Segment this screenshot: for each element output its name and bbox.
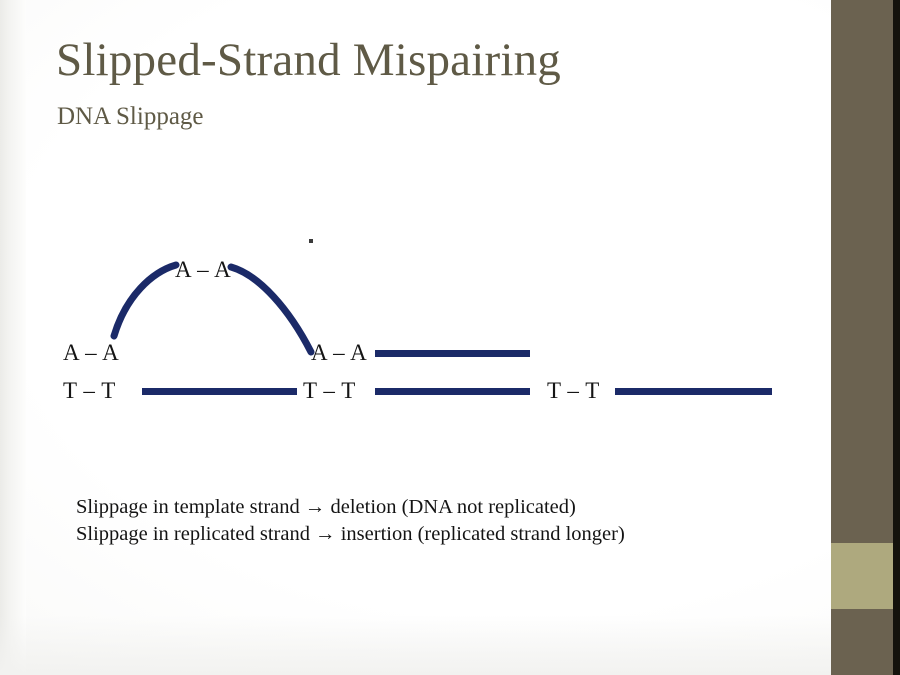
template-strand-segment-2 (375, 388, 530, 395)
basepair-label-left-top: A – A (63, 340, 119, 366)
note-line-replicated-strand: Slippage in replicated strand → insertio… (76, 521, 625, 548)
dna-slippage-diagram: A – A A – A T – T A – A T – T T – T (0, 0, 831, 675)
slide-sidebar (831, 0, 900, 675)
basepair-label-middle-top: A – A (311, 340, 367, 366)
sidebar-edge-stripe (893, 0, 900, 675)
template-strand-segment-1 (142, 388, 297, 395)
diagram-vector-layer (0, 0, 831, 675)
slipped-loop-arc-right (231, 267, 311, 352)
replicated-strand-segment-1 (375, 350, 530, 357)
basepair-label-right-bottom: T – T (547, 378, 600, 404)
stray-dot (309, 239, 313, 243)
sidebar-accent-block (831, 543, 893, 609)
presentation-slide: Slipped-Strand Mispairing DNA Slippage A… (0, 0, 900, 675)
note-line-template-strand: Slippage in template strand → deletion (… (76, 494, 625, 521)
basepair-label-left-bottom: T – T (63, 378, 116, 404)
basepair-label-loop: A – A (175, 257, 231, 283)
sidebar-band (831, 0, 893, 675)
basepair-label-middle-bottom: T – T (303, 378, 356, 404)
slipped-loop-arc-left (114, 265, 176, 336)
slide-notes: Slippage in template strand → deletion (… (76, 494, 625, 548)
template-strand-segment-3 (615, 388, 772, 395)
